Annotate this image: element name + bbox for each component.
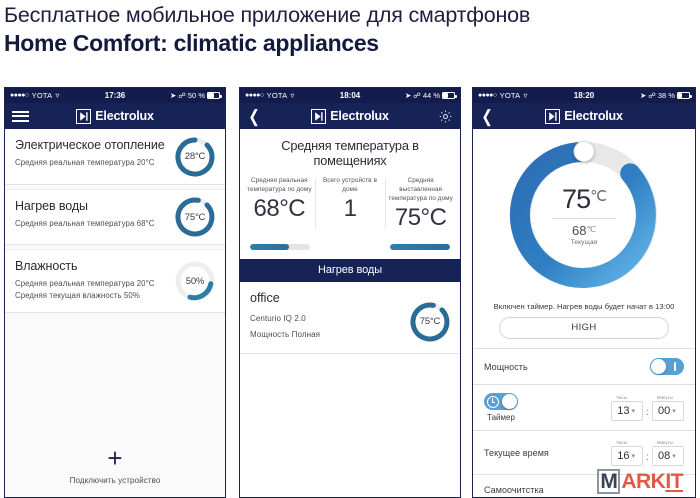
timer-note: Включен таймер. Нагрев воды будет начат … (473, 297, 695, 317)
electrolux-mark-icon (545, 109, 560, 124)
section-header-water-heating: Нагрев воды (240, 259, 460, 282)
watermark-markit: MARKIT (597, 469, 683, 494)
current-minutes-field[interactable]: Минуты 08▾ (652, 446, 684, 466)
stat-real-temp: Средняя реальная температура по дому 68°… (244, 176, 315, 232)
timer-hours-caption: Часы (616, 395, 627, 400)
phone-screen-devices: ●●●●○ YOTA ▿ 17:36 ➤ ☍ 50 % Electrolux (4, 87, 226, 498)
gear-icon[interactable] (425, 109, 453, 124)
dial-readout: 75℃ 68℃ Текущая (533, 164, 635, 266)
row-label-power: Мощность (484, 362, 528, 372)
brand-name: Electrolux (564, 109, 622, 123)
current-time-picker: Часы 16▾ : Минуты 08▾ (611, 439, 684, 466)
status-bar: ●●●●○ YOTA ▿ 17:36 ➤ ☍ 50 % (5, 88, 225, 103)
dial-current-value: 68 (572, 223, 586, 238)
hamburger-menu-icon[interactable] (12, 111, 40, 122)
status-bar: ●●●●○ YOTA ▿ 18:20 ➤ ☍ 38 % (473, 88, 695, 103)
nav-bar: Electrolux (5, 103, 225, 129)
dial-current-label: Текущая (571, 239, 598, 246)
chevron-down-icon: ▾ (631, 452, 635, 460)
timer-time-picker: Часы 13▾ : Минуты 00▾ (611, 394, 684, 421)
back-chevron-icon[interactable]: ❮ (480, 108, 508, 125)
timer-minutes-caption: Минуты (657, 395, 673, 400)
electrolux-mark-icon (76, 109, 91, 124)
progress-bar-real-temp (250, 244, 310, 250)
stat-device-count: Всего устройств в доме 1 (315, 176, 386, 232)
watermark-ark: ARK (621, 471, 665, 492)
current-minutes-value: 08 (658, 450, 670, 462)
brand-name: Electrolux (330, 109, 388, 123)
chevron-down-icon: ▾ (672, 452, 676, 460)
current-hours-field[interactable]: Часы 16▾ (611, 446, 643, 466)
status-bar-right: ➤ ☍ 44 % (405, 91, 455, 100)
watermark-it: IT (665, 470, 683, 493)
gauge-value: 75°C (409, 301, 451, 343)
add-device-button[interactable]: + Подключить устройство (5, 448, 225, 485)
phone-screen-water-heater-control: ●●●●○ YOTA ▿ 18:20 ➤ ☍ 38 % ❮ Electrolux (472, 87, 696, 498)
timer-minutes-value: 00 (658, 405, 670, 417)
location-arrow-icon: ➤ (170, 91, 176, 100)
dial-handle[interactable] (574, 141, 595, 162)
temperature-dial[interactable]: 75℃ 68℃ Текущая (508, 139, 660, 291)
device-card-heating[interactable]: Электрическое отопление Средняя реальная… (5, 129, 225, 185)
chevron-down-icon: ▾ (631, 407, 635, 415)
stat-caption: Средняя выставленная температура по дому (388, 176, 453, 203)
row-power: Мощность (473, 348, 695, 384)
battery-icon (442, 92, 455, 99)
timer-toggle[interactable] (484, 393, 518, 410)
bluetooth-icon: ☍ (648, 91, 656, 100)
stat-set-temp: Средняя выставленная температура по дому… (385, 176, 456, 232)
gauge-value: 28°C (174, 136, 216, 178)
header-subtitle: Бесплатное мобильное приложение для смар… (4, 2, 696, 29)
location-arrow-icon: ➤ (640, 91, 646, 100)
current-minutes-caption: Минуты (657, 440, 673, 445)
add-device-label: Подключить устройство (5, 476, 225, 485)
bluetooth-icon: ☍ (413, 91, 421, 100)
stats-row: Средняя реальная температура по дому 68°… (240, 176, 460, 238)
timer-hours-field[interactable]: Часы 13▾ (611, 401, 643, 421)
plus-icon: + (5, 448, 225, 469)
progress-bars-row (240, 238, 460, 259)
electrolux-mark-icon (311, 109, 326, 124)
current-hours-value: 16 (617, 450, 629, 462)
bluetooth-icon: ☍ (178, 91, 186, 100)
battery-icon (677, 92, 690, 99)
dial-current-temperature: 68℃ (572, 223, 596, 238)
location-arrow-icon: ➤ (405, 91, 411, 100)
stat-caption: Всего устройств в доме (318, 176, 383, 194)
stat-value: 75°C (388, 204, 453, 232)
back-chevron-icon[interactable]: ❮ (247, 108, 275, 125)
timer-toggle-group: Таймер (484, 393, 518, 422)
gauge-value: 75°C (174, 196, 216, 238)
nav-bar: ❮ Electrolux (473, 103, 695, 129)
row-label-timer: Таймер (487, 413, 515, 422)
timer-hours-value: 13 (617, 405, 629, 417)
gauge-humidity: 50% (174, 260, 216, 302)
page-header: Бесплатное мобильное приложение для смар… (0, 0, 700, 57)
mode-pill-high[interactable]: HIGH (499, 317, 669, 339)
battery-icon (207, 92, 220, 99)
stat-value: 68°C (247, 195, 312, 223)
water-heater-body: 75℃ 68℃ Текущая Включен таймер. Нагрев в… (473, 129, 695, 498)
mode-pill-row: HIGH (473, 317, 695, 348)
dial-set-temperature: 75℃ (562, 184, 606, 215)
temperature-dial-area: 75℃ 68℃ Текущая (473, 129, 695, 297)
battery-percent-label: 50 % (188, 91, 205, 100)
row-current-time: Текущее время Часы 16▾ : Минуты 08▾ (473, 430, 695, 474)
dial-current-unit: ℃ (586, 224, 596, 234)
page-title: Средняя температура в помещениях (240, 129, 460, 176)
row-label-self-cleaning: Самоочитстка (484, 485, 544, 495)
battery-percent-label: 38 % (658, 91, 675, 100)
page-title: Home Comfort: climatic appliances (4, 30, 696, 58)
timer-minutes-field[interactable]: Минуты 00▾ (652, 401, 684, 421)
status-bar: ●●●●○ YOTA ▿ 18:04 ➤ ☍ 44 % (240, 88, 460, 103)
nav-bar: ❮ Electrolux (240, 103, 460, 129)
gauge-office: 75°C (409, 301, 451, 343)
gauge-value: 50% (174, 260, 216, 302)
current-separator: : (646, 452, 649, 466)
power-toggle[interactable] (650, 358, 684, 375)
phone-screenshots-row: ●●●●○ YOTA ▿ 17:36 ➤ ☍ 50 % Electrolux (0, 87, 700, 498)
current-hours-caption: Часы (616, 440, 627, 445)
phone-screen-average-temperature: ●●●●○ YOTA ▿ 18:04 ➤ ☍ 44 % ❮ Electrolux (239, 87, 461, 498)
dial-set-value: 75 (562, 184, 590, 214)
device-list: Электрическое отопление Средняя реальная… (5, 129, 225, 498)
device-card-humidity[interactable]: Влажность Средняя реальная температура 2… (5, 249, 225, 313)
status-bar-right: ➤ ☍ 50 % (170, 91, 220, 100)
dial-divider (552, 218, 616, 219)
gauge-heating: 28°C (174, 136, 216, 178)
row-label-current-time: Текущее время (484, 448, 549, 458)
clock-icon (487, 396, 499, 408)
chevron-down-icon: ▾ (672, 407, 676, 415)
dial-set-unit: ℃ (590, 188, 606, 205)
brand-name: Electrolux (95, 109, 153, 123)
watermark-m: M (597, 469, 620, 494)
average-temperature-body: Средняя температура в помещениях Средняя… (240, 129, 460, 498)
status-bar-right: ➤ ☍ 38 % (640, 91, 690, 100)
device-card-water[interactable]: Нагрев воды Средняя реальная температура… (5, 189, 225, 245)
stat-value: 1 (318, 195, 383, 223)
gauge-water: 75°C (174, 196, 216, 238)
timer-separator: : (646, 407, 649, 421)
progress-bar-set-temp (390, 244, 450, 250)
battery-percent-label: 44 % (423, 91, 440, 100)
stat-caption: Средняя реальная температура по дому (247, 176, 312, 194)
device-card-office[interactable]: office Centurio IQ 2.0 Мощность Полная 7… (240, 282, 460, 353)
row-timer: Таймер Часы 13▾ : Минуты 00▾ (473, 384, 695, 430)
